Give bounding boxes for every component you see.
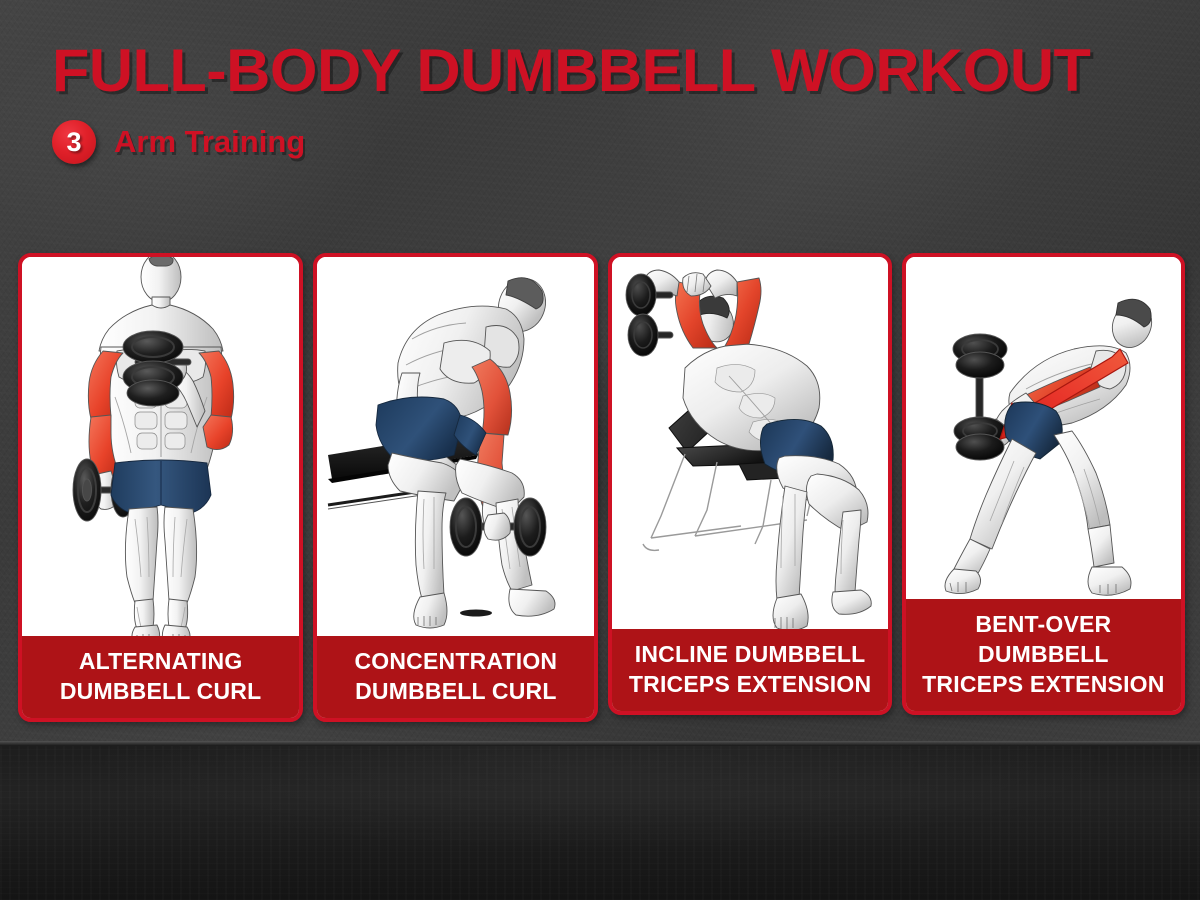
- exercise-card-alternating-dumbbell-curl[interactable]: ALTERNATING DUMBBELL CURL: [18, 253, 303, 722]
- exercise-card-concentration-dumbbell-curl[interactable]: CONCENTRATION DUMBBELL CURL: [313, 253, 598, 722]
- card-caption-bent-over-dumbbell-triceps-extension: BENT-OVER DUMBBELL TRICEPS EXTENSION: [906, 599, 1181, 711]
- caption-line-1: BENT-OVER DUMBBELL: [975, 611, 1111, 667]
- caption-line-2: TRICEPS EXTENSION: [616, 669, 883, 699]
- card-caption-concentration-dumbbell-curl: CONCENTRATION DUMBBELL CURL: [317, 636, 594, 718]
- exercise-card-grid: ALTERNATING DUMBBELL CURL: [18, 253, 1185, 722]
- section-row: 3 Arm Training: [52, 120, 1152, 164]
- caption-line-2: DUMBBELL CURL: [321, 676, 590, 706]
- exercise-illustration-alternating-dumbbell-curl: [22, 257, 299, 636]
- page-title: FULL-BODY DUMBBELL WORKOUT: [52, 40, 1174, 102]
- caption-line-2: TRICEPS EXTENSION: [910, 669, 1177, 699]
- header: FULL-BODY DUMBBELL WORKOUT 3 Arm Trainin…: [52, 40, 1152, 164]
- exercise-illustration-incline-dumbbell-triceps-extension: [612, 257, 887, 629]
- caption-line-1: INCLINE DUMBBELL: [635, 641, 866, 667]
- section-subtitle: Arm Training: [114, 124, 305, 160]
- exercise-illustration-bent-over-dumbbell-triceps-extension: [906, 257, 1181, 599]
- exercise-card-bent-over-dumbbell-triceps-extension[interactable]: BENT-OVER DUMBBELL TRICEPS EXTENSION: [902, 253, 1185, 715]
- card-caption-incline-dumbbell-triceps-extension: INCLINE DUMBBELL TRICEPS EXTENSION: [612, 629, 887, 711]
- card-caption-alternating-dumbbell-curl: ALTERNATING DUMBBELL CURL: [22, 636, 299, 718]
- caption-line-1: CONCENTRATION: [354, 648, 557, 674]
- caption-line-2: DUMBBELL CURL: [26, 676, 295, 706]
- caption-line-1: ALTERNATING: [79, 648, 243, 674]
- exercise-illustration-concentration-dumbbell-curl: [317, 257, 594, 636]
- section-number-badge: 3: [52, 120, 96, 164]
- floor-background: [0, 746, 1200, 900]
- exercise-card-incline-dumbbell-triceps-extension[interactable]: INCLINE DUMBBELL TRICEPS EXTENSION: [608, 253, 891, 715]
